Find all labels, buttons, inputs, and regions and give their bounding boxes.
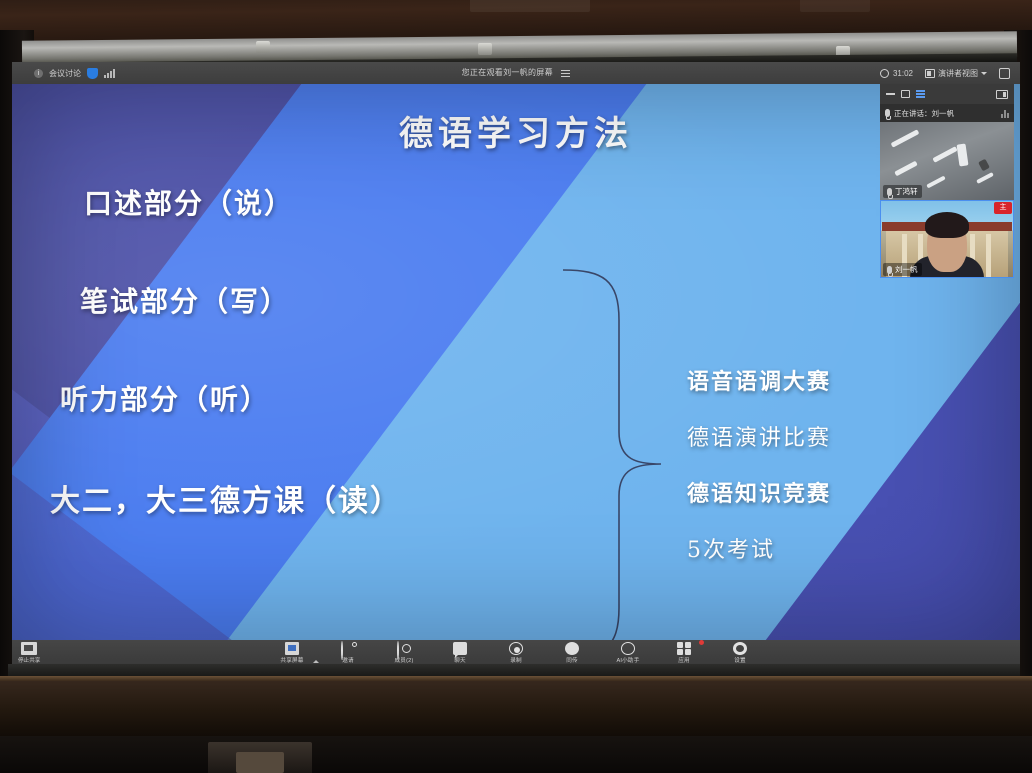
microphone-icon bbox=[885, 109, 890, 117]
slide-right-item: 5次考试 bbox=[687, 532, 831, 564]
curly-brace-connector bbox=[557, 264, 667, 640]
speaking-indicator: 正在讲话：刘一帆 bbox=[880, 104, 1014, 122]
expand-icon[interactable] bbox=[999, 68, 1010, 79]
title-bar-right-group: 31:02 演讲者视图 bbox=[880, 68, 1010, 79]
info-icon: i bbox=[34, 69, 43, 78]
speaking-label: 正在讲话：刘一帆 bbox=[894, 108, 954, 119]
toolbar-label: 共享屏幕 bbox=[280, 656, 303, 664]
toolbar-label: 邀请 bbox=[342, 656, 354, 664]
toolbar-item-apps[interactable]: 应用 bbox=[666, 642, 702, 664]
toolbar-label: AI小助手 bbox=[616, 656, 639, 664]
display-screen: i 会议讨论 您正在观看刘一帆的屏幕 31:02 演讲者视图 bbox=[12, 62, 1020, 666]
hamburger-menu-icon[interactable] bbox=[561, 68, 570, 79]
signal-bars-icon bbox=[104, 69, 115, 78]
slide-right-column: 语音语调大赛 德语演讲比赛 德语知识竞赛 5次考试 bbox=[687, 364, 831, 588]
view-mode-label: 演讲者视图 bbox=[938, 68, 978, 79]
chevron-up-icon[interactable] bbox=[313, 660, 319, 663]
app-title-bar: i 会议讨论 您正在观看刘一帆的屏幕 31:02 演讲者视图 bbox=[12, 62, 1020, 84]
video-tile-name: 丁鸿轩 bbox=[883, 185, 922, 198]
participant-name: 刘一帆 bbox=[895, 264, 918, 275]
toolbar-item-interpretation[interactable]: 同传 bbox=[554, 642, 590, 664]
lectern-front-panel bbox=[236, 752, 284, 773]
layout-grid-icon[interactable] bbox=[916, 89, 925, 99]
video-tile[interactable]: 主 刘一帆 bbox=[880, 200, 1014, 278]
audio-wave-icon bbox=[1001, 109, 1009, 118]
screen-share-notice: 您正在观看刘一帆的屏幕 bbox=[12, 67, 1020, 78]
timer-value: 31:02 bbox=[893, 69, 913, 78]
stop-share-label: 停止共享 bbox=[18, 656, 40, 664]
toolbar-item-participants[interactable]: 成员(2) bbox=[386, 642, 422, 664]
video-panel: 正在讲话：刘一帆 丁鸿轩 bbox=[880, 84, 1014, 278]
speaker-view-icon bbox=[925, 69, 935, 78]
video-tile-name: 刘一帆 bbox=[883, 263, 922, 276]
toolbar-label: 录制 bbox=[510, 656, 522, 664]
meeting-toolbar: 停止共享 共享屏幕 邀请 成员(2) 聊天 录制 bbox=[12, 640, 1020, 666]
view-mode-button[interactable]: 演讲者视图 bbox=[925, 68, 987, 79]
clock-icon bbox=[880, 69, 889, 78]
toolbar-item-chat[interactable]: 聊天 bbox=[442, 642, 478, 664]
slide-left-item: 听力部分（听） bbox=[50, 378, 520, 418]
bezel-clip bbox=[256, 41, 270, 53]
slide-left-column: 口述部分（说） 笔试部分（写） 听力部分（听） 大二，大三德方课（读） bbox=[50, 182, 520, 578]
toolbar-label: 设置 bbox=[734, 656, 746, 664]
toolbar-item-record[interactable]: 录制 bbox=[498, 642, 534, 664]
slide-right-item: 德语演讲比赛 bbox=[687, 420, 831, 452]
record-icon bbox=[509, 642, 523, 655]
slide-right-item: 语音语调大赛 bbox=[687, 364, 831, 396]
video-tile[interactable]: 丁鸿轩 bbox=[880, 122, 1014, 200]
desk-edge bbox=[0, 676, 1032, 681]
toolbar-item-ai-assistant[interactable]: AI小助手 bbox=[610, 642, 646, 664]
title-bar-left-group: i 会议讨论 bbox=[12, 68, 115, 79]
slide-left-item: 大二，大三德方课（读） bbox=[50, 476, 520, 520]
floor-area bbox=[0, 736, 1032, 773]
notification-dot bbox=[699, 640, 704, 645]
apps-grid-icon bbox=[677, 642, 691, 655]
participant-name: 丁鸿轩 bbox=[895, 186, 918, 197]
chat-bubble-icon bbox=[453, 642, 467, 655]
minimize-icon[interactable] bbox=[886, 93, 895, 95]
video-panel-controls bbox=[880, 84, 1014, 104]
chevron-down-icon bbox=[981, 72, 987, 75]
share-screen-icon bbox=[285, 642, 299, 655]
bezel-clip bbox=[478, 43, 492, 55]
toolbar-label: 聊天 bbox=[454, 656, 466, 664]
toolbar-item-invite[interactable]: 邀请 bbox=[330, 642, 366, 664]
gear-icon bbox=[733, 642, 747, 655]
shield-icon bbox=[87, 68, 98, 79]
toolbar-item-settings[interactable]: 设置 bbox=[722, 642, 758, 664]
invite-person-icon bbox=[341, 642, 355, 655]
interpretation-globe-icon bbox=[565, 642, 579, 655]
toolbar-label: 应用 bbox=[678, 656, 690, 664]
slide-left-item: 笔试部分（写） bbox=[50, 280, 520, 320]
microphone-icon bbox=[887, 266, 892, 274]
ceiling-vent bbox=[470, 0, 590, 12]
slide-title: 德语学习方法 bbox=[12, 106, 1020, 155]
toolbar-label: 同传 bbox=[566, 656, 578, 664]
shared-slide: 德语学习方法 口述部分（说） 笔试部分（写） 听力部分（听） 大二，大三德方课（… bbox=[12, 84, 1020, 640]
restore-window-icon[interactable] bbox=[901, 90, 910, 98]
meeting-label: 会议讨论 bbox=[49, 68, 81, 79]
stop-share-button[interactable]: 停止共享 bbox=[18, 642, 40, 664]
stop-share-icon bbox=[21, 642, 37, 655]
desk-surface bbox=[0, 676, 1032, 736]
person-hair bbox=[925, 212, 969, 238]
panel-toggle-icon[interactable] bbox=[996, 90, 1008, 99]
toolbar-item-share-screen[interactable]: 共享屏幕 bbox=[274, 642, 310, 664]
meeting-timer: 31:02 bbox=[880, 69, 913, 78]
ai-assistant-icon bbox=[621, 642, 635, 655]
ceiling-vent-secondary bbox=[800, 0, 870, 12]
slide-left-item: 口述部分（说） bbox=[50, 182, 520, 222]
participants-icon bbox=[397, 642, 411, 655]
host-badge: 主 bbox=[994, 202, 1012, 214]
microphone-icon bbox=[887, 188, 892, 196]
slide-right-item: 德语知识竞赛 bbox=[687, 476, 831, 508]
screen-share-notice-text: 您正在观看刘一帆的屏幕 bbox=[462, 68, 553, 77]
classroom-photo-scene: i 会议讨论 您正在观看刘一帆的屏幕 31:02 演讲者视图 bbox=[0, 0, 1032, 773]
